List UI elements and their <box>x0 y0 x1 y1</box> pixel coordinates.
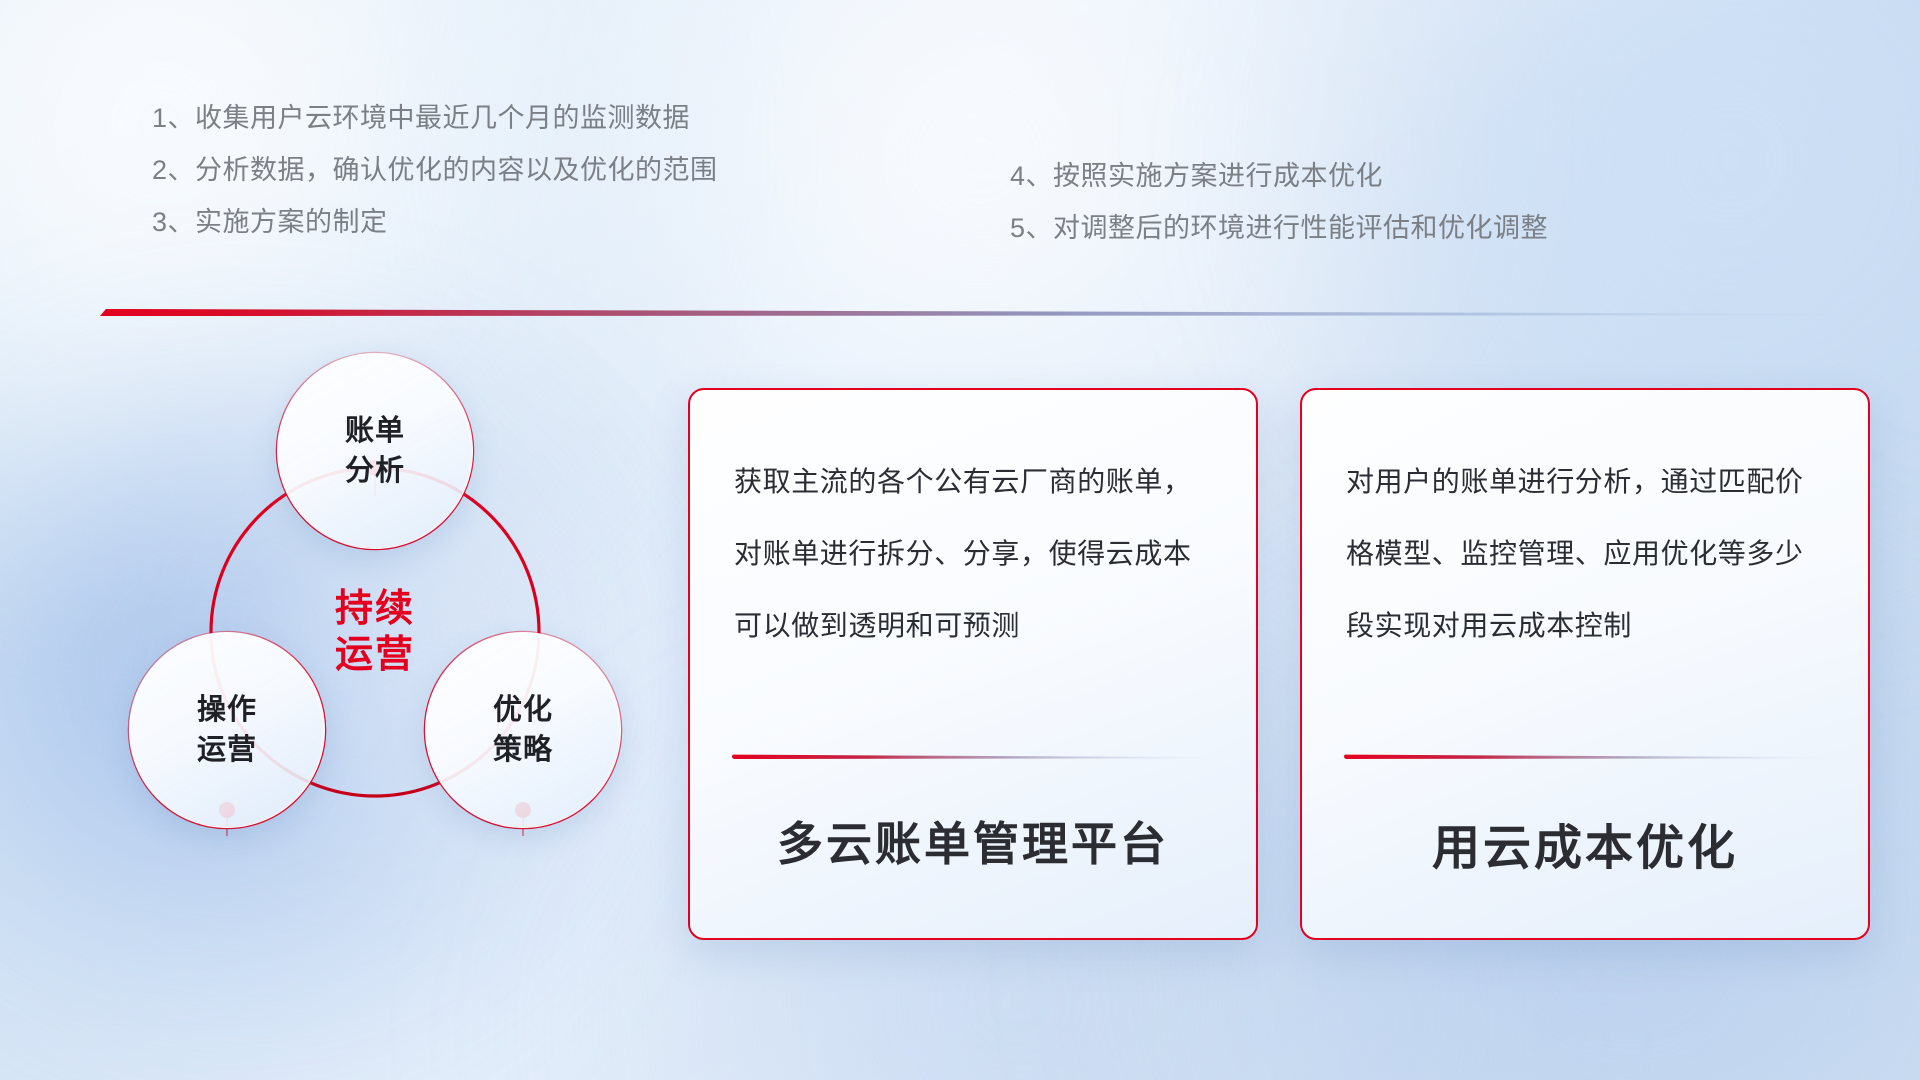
step-item: 3、实施方案的制定 <box>152 196 718 248</box>
venn-center-label-line2: 运营 <box>335 632 415 678</box>
card-body-text: 获取主流的各个公有云厂商的账单，对账单进行拆分、分享，使得云成本可以做到透明和可… <box>734 446 1212 662</box>
card-body-text: 对用户的账单进行分析，通过匹配价格模型、监控管理、应用优化等多少段实现对用云成本… <box>1346 446 1824 662</box>
card-cloud-cost-optimization[interactable]: 对用户的账单进行分析，通过匹配价格模型、监控管理、应用优化等多少段实现对用云成本… <box>1300 388 1870 940</box>
card-multi-cloud-billing-platform[interactable]: 获取主流的各个公有云厂商的账单，对账单进行拆分、分享，使得云成本可以做到透明和可… <box>688 388 1258 940</box>
venn-lobe-label-line1: 账单 <box>345 411 405 451</box>
venn-lobe-label: 账单 分析 <box>345 411 405 491</box>
steps-list-left: 1、收集用户云环境中最近几个月的监测数据 2、分析数据，确认优化的内容以及优化的… <box>152 92 718 248</box>
card-title: 用云成本优化 <box>1302 808 1868 878</box>
step-item: 1、收集用户云环境中最近几个月的监测数据 <box>152 92 718 144</box>
venn-center-label-line1: 持续 <box>335 586 415 632</box>
step-item: 2、分析数据，确认优化的内容以及优化的范围 <box>152 144 718 196</box>
step-item: 4、按照实施方案进行成本优化 <box>1010 150 1548 202</box>
venn-diagram: 账单 分析 操作 运营 优化 策略 持续 运营 <box>95 350 655 950</box>
venn-lobe-label-line2: 分析 <box>345 451 405 491</box>
card-title: 多云账单管理平台 <box>690 808 1256 874</box>
steps-list-right: 4、按照实施方案进行成本优化 5、对调整后的环境进行性能评估和优化调整 <box>1010 150 1548 254</box>
section-divider <box>100 305 1840 323</box>
card-accent-rule <box>732 754 1218 759</box>
venn-center-label: 持续 运营 <box>235 492 515 772</box>
step-item: 5、对调整后的环境进行性能评估和优化调整 <box>1010 202 1548 254</box>
card-accent-rule <box>1344 754 1830 759</box>
